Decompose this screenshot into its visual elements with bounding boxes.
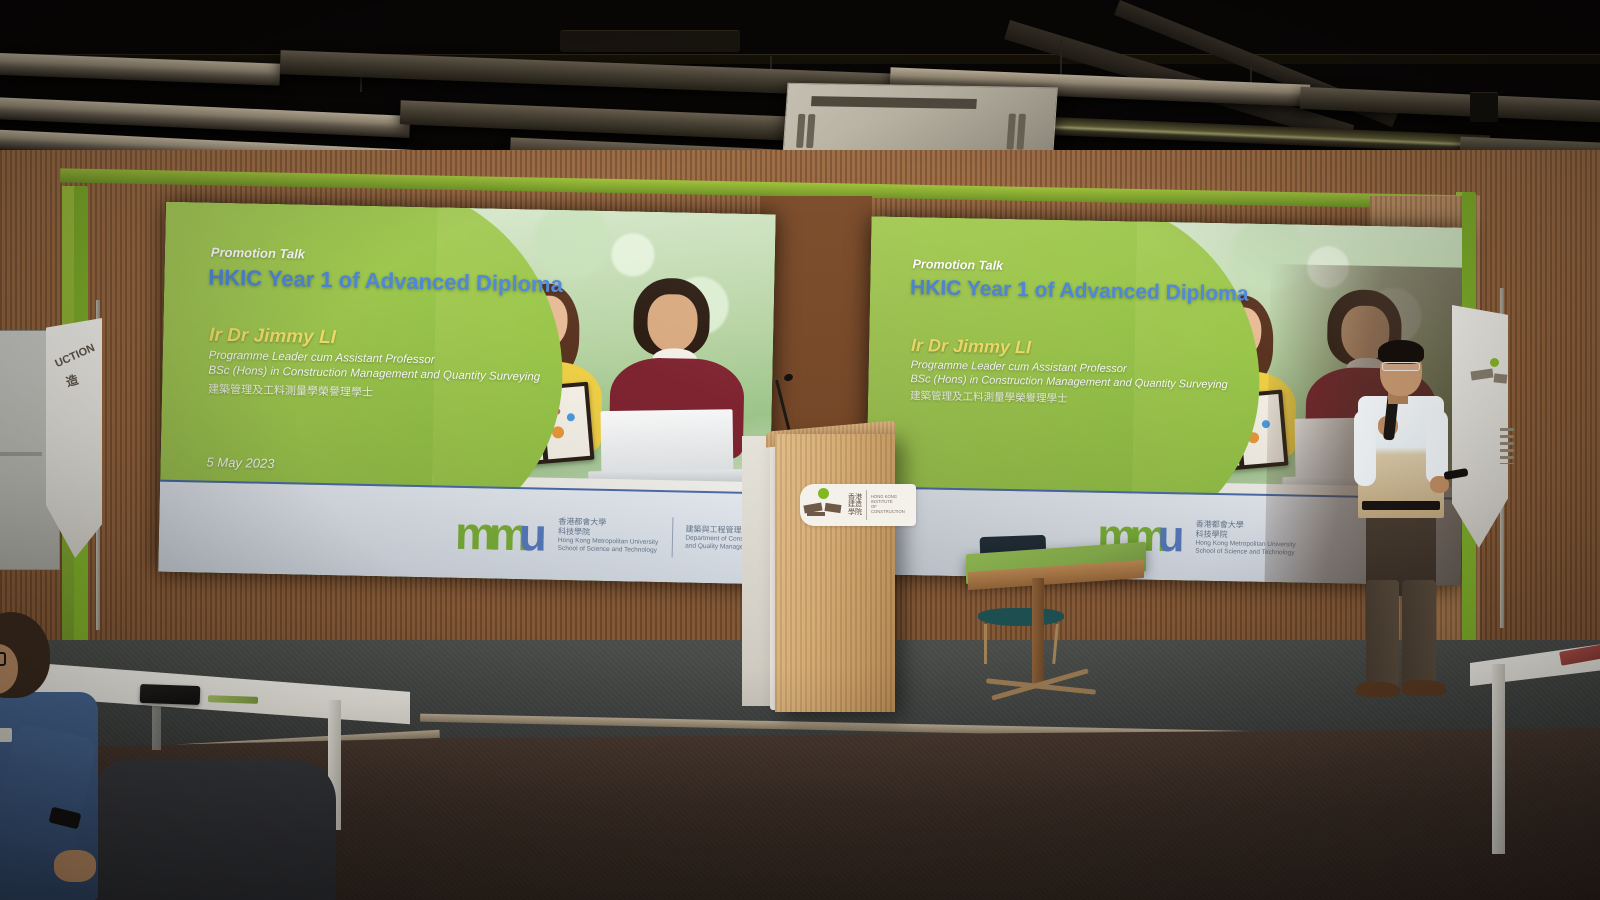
audience-glasses: [0, 652, 6, 666]
slide-kicker: Promotion Talk: [211, 245, 305, 262]
stage-chair-leg: [984, 624, 987, 664]
ceiling-speaker-box: [1470, 92, 1498, 122]
mu-logo: m m u: [455, 506, 547, 562]
stage-chair-seat[interactable]: [978, 608, 1064, 626]
flag-right-cn-block: [1500, 428, 1514, 464]
podium-hkic-logo: 香港 建造 學院 HONG KONG INSTITUTE OF CONSTRUC…: [800, 484, 916, 526]
speaker-arm-left: [1354, 410, 1376, 486]
lecture-hall-scene: Promotion Talk HKIC Year 1 of Advanced D…: [0, 0, 1600, 900]
speaker-belt: [1362, 501, 1440, 510]
slide-photo-students: [431, 207, 775, 524]
hkic-logo-cn: 香港 建造 學院: [848, 494, 862, 516]
projection-screen-left: Promotion Talk HKIC Year 1 of Advanced D…: [158, 202, 776, 585]
slide-speaker-name: Ir Dr Jimmy LI: [209, 325, 336, 350]
slide-speaker-name-right: Ir Dr Jimmy LI: [911, 335, 1031, 358]
audience-hand: [54, 850, 96, 882]
speaker-shoe-right: [1402, 680, 1446, 696]
hkic-logo-wedge-right: [825, 503, 842, 513]
audience-member-figure: [0, 600, 308, 900]
right-side-table-leg: [1492, 664, 1505, 854]
slide-kicker-right: Promotion Talk: [912, 257, 1003, 273]
mu-org-en-2: School of Science and Technology: [558, 545, 659, 555]
speaker-leg-left: [1366, 580, 1399, 690]
mu-logo-u: u: [518, 507, 546, 562]
speaker-shoe-left: [1356, 682, 1400, 697]
hkic-logo-base: [807, 512, 825, 516]
mu-logo-u-right: u: [1157, 512, 1184, 562]
stage-table-post: [1032, 578, 1044, 686]
slide-date: 5 May 2023: [206, 455, 274, 471]
audience-name-badge: [0, 728, 12, 742]
whiteboard-tray: [0, 452, 42, 456]
hkic-cn-2: 建造: [848, 501, 862, 508]
hkic-logo-en: HONG KONG INSTITUTE OF CONSTRUCTION: [871, 495, 905, 514]
hkic-cn-3: 學院: [848, 509, 862, 516]
slide-footer-left: m m u 香港都會大學 科技學院 Hong Kong Metropolitan…: [158, 480, 770, 585]
speaker-leg-right: [1402, 580, 1436, 690]
hkic-en-4: CONSTRUCTION: [871, 510, 905, 515]
speaker-hair: [1378, 340, 1424, 364]
slide-left: Promotion Talk HKIC Year 1 of Advanced D…: [158, 202, 776, 585]
slide-speaker-cn: 建築管理及工料測量學榮譽理學士: [208, 381, 373, 400]
audience-lap: [96, 760, 336, 900]
hkic-logo-mark: [800, 484, 846, 526]
slide-photo-laptop: [601, 409, 734, 477]
podium-lectern[interactable]: [775, 434, 895, 712]
podium-side-panel: [742, 436, 772, 706]
hkic-logo-dot: [818, 488, 829, 499]
slide-speaker-cn-right: 建築管理及工料測量學榮譽理學士: [910, 388, 1068, 406]
speaker-figure: [1340, 338, 1500, 698]
speaker-glasses: [1382, 362, 1420, 371]
